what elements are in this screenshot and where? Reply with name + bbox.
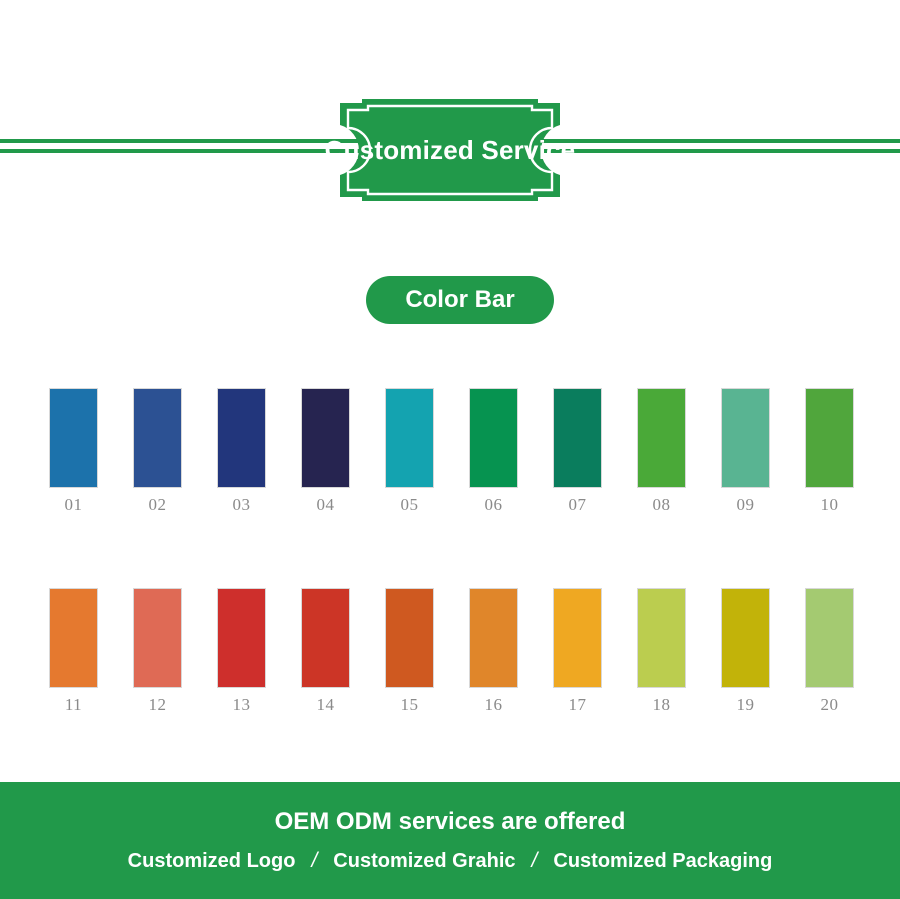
color-swatch-grid-row-2: 11 12 13 14 15 16 17 18 [49,588,854,715]
swatch-item[interactable]: 02 [133,388,182,515]
swatch-item[interactable]: 17 [553,588,602,715]
header-banner: Customized Service [0,95,900,205]
swatch-chip[interactable] [133,588,182,688]
swatch-item[interactable]: 07 [553,388,602,515]
swatch-chip[interactable] [637,388,686,488]
swatch-item[interactable]: 08 [637,388,686,515]
footer-services-list: Customized Logo / Customized Grahic / Cu… [128,849,773,873]
swatch-label: 17 [569,695,587,715]
swatch-label: 08 [653,495,671,515]
page-title: Customized Service [318,95,582,205]
swatch-label: 04 [317,495,335,515]
swatch-label: 10 [821,495,839,515]
swatch-label: 18 [653,695,671,715]
swatch-label: 11 [65,695,82,715]
swatch-chip[interactable] [721,588,770,688]
footer-separator: / [516,849,554,873]
swatch-label: 05 [401,495,419,515]
swatch-item[interactable]: 18 [637,588,686,715]
swatch-item[interactable]: 09 [721,388,770,515]
swatch-item[interactable]: 16 [469,588,518,715]
swatch-item[interactable]: 01 [49,388,98,515]
color-swatch-grid-row-1: 01 02 03 04 05 06 07 08 [49,388,854,515]
swatch-label: 03 [233,495,251,515]
footer-service-item-packaging: Customized Packaging [553,850,772,873]
swatch-row: 11 12 13 14 15 16 17 18 [49,588,854,715]
swatch-chip[interactable] [49,388,98,488]
swatch-label: 07 [569,495,587,515]
swatch-chip[interactable] [385,588,434,688]
swatch-chip[interactable] [217,388,266,488]
swatch-label: 16 [485,695,503,715]
swatch-item[interactable]: 06 [469,388,518,515]
swatch-label: 12 [149,695,167,715]
swatch-item[interactable]: 13 [217,588,266,715]
swatch-chip[interactable] [469,388,518,488]
swatch-item[interactable]: 10 [805,388,854,515]
swatch-chip[interactable] [637,588,686,688]
swatch-chip[interactable] [385,388,434,488]
swatch-item[interactable]: 19 [721,588,770,715]
swatch-chip[interactable] [301,388,350,488]
footer-headline: OEM ODM services are offered [275,808,626,836]
swatch-chip[interactable] [133,388,182,488]
swatch-item[interactable]: 15 [385,588,434,715]
swatch-chip[interactable] [301,588,350,688]
swatch-label: 14 [317,695,335,715]
swatch-label: 13 [233,695,251,715]
swatch-label: 09 [737,495,755,515]
swatch-row: 01 02 03 04 05 06 07 08 [49,388,854,515]
footer-banner: OEM ODM services are offered Customized … [0,782,900,899]
swatch-chip[interactable] [553,388,602,488]
swatch-chip[interactable] [49,588,98,688]
swatch-label: 15 [401,695,419,715]
swatch-item[interactable]: 04 [301,388,350,515]
swatch-chip[interactable] [553,588,602,688]
swatch-label: 20 [821,695,839,715]
swatch-item[interactable]: 20 [805,588,854,715]
swatch-label: 01 [65,495,83,515]
swatch-chip[interactable] [469,588,518,688]
swatch-label: 19 [737,695,755,715]
swatch-item[interactable]: 11 [49,588,98,715]
swatch-item[interactable]: 12 [133,588,182,715]
swatch-item[interactable]: 05 [385,388,434,515]
footer-service-item-logo: Customized Logo [128,850,296,873]
footer-service-item-graphic: Customized Grahic [333,850,515,873]
swatch-chip[interactable] [217,588,266,688]
swatch-chip[interactable] [805,588,854,688]
swatch-label: 06 [485,495,503,515]
section-pill-color-bar: Color Bar [366,276,554,324]
swatch-item[interactable]: 03 [217,388,266,515]
swatch-label: 02 [149,495,167,515]
swatch-item[interactable]: 14 [301,588,350,715]
swatch-chip[interactable] [721,388,770,488]
header-plaque: Customized Service [318,95,582,205]
footer-separator: / [295,849,333,873]
swatch-chip[interactable] [805,388,854,488]
